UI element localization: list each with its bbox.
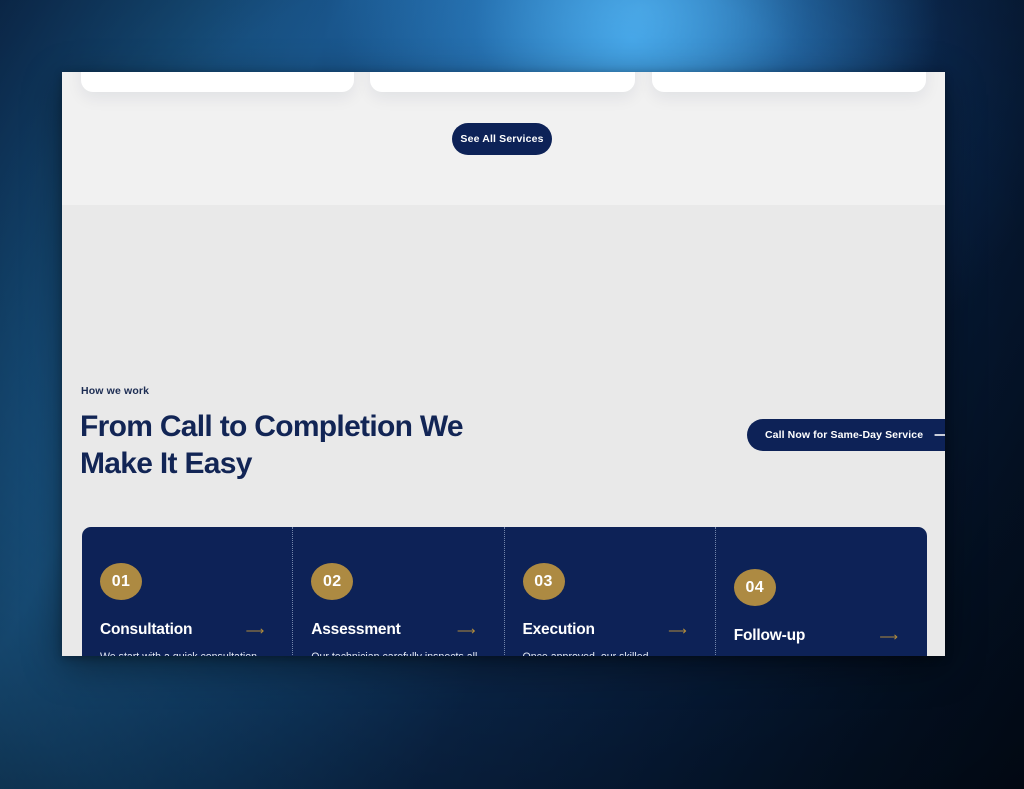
step-number-badge: 03 bbox=[523, 563, 565, 600]
step-description: Our technician carefully inspects all co… bbox=[311, 648, 479, 656]
see-all-services-button[interactable]: See All Services bbox=[452, 123, 552, 155]
process-step[interactable]: 03 Execution ⟶ Once approved, our skille… bbox=[505, 527, 716, 656]
browser-window: Learn More ⟶ Learn More ⟶ See All Servic… bbox=[62, 72, 945, 656]
step-description: We start with a quick consultation to un… bbox=[100, 648, 268, 656]
service-card[interactable] bbox=[652, 72, 926, 92]
service-card[interactable]: Learn More ⟶ bbox=[370, 72, 635, 92]
arrow-right-icon: ⟶ bbox=[934, 429, 945, 441]
how-we-work-section: How we work From Call to Completion We M… bbox=[62, 205, 945, 656]
step-number-badge: 02 bbox=[311, 563, 353, 600]
arrow-right-icon[interactable]: ⟶ bbox=[246, 624, 265, 637]
step-description: Once approved, our skilled technicians p… bbox=[523, 648, 691, 656]
process-step[interactable]: 02 Assessment ⟶ Our technician carefully… bbox=[293, 527, 504, 656]
section-eyebrow: How we work bbox=[81, 385, 149, 397]
step-title: Execution bbox=[523, 621, 595, 639]
step-header: Follow-up ⟶ bbox=[734, 627, 902, 645]
arrow-right-icon[interactable]: ⟶ bbox=[668, 624, 687, 637]
call-now-button[interactable]: Call Now for Same-Day Service ⟶ bbox=[747, 419, 945, 451]
process-step[interactable]: 04 Follow-up ⟶ After completing the job,… bbox=[716, 527, 927, 656]
step-header: Consultation ⟶ bbox=[100, 621, 268, 639]
page-title: From Call to Completion We Make It Easy bbox=[80, 409, 510, 482]
step-number-badge: 04 bbox=[734, 569, 776, 606]
services-strip: Learn More ⟶ Learn More ⟶ See All Servic… bbox=[62, 72, 945, 205]
step-header: Assessment ⟶ bbox=[311, 621, 479, 639]
step-number-badge: 01 bbox=[100, 563, 142, 600]
step-header: Execution ⟶ bbox=[523, 621, 691, 639]
step-title: Consultation bbox=[100, 621, 192, 639]
step-title: Assessment bbox=[311, 621, 400, 639]
process-steps-panel: 01 Consultation ⟶ We start with a quick … bbox=[82, 527, 927, 656]
process-step[interactable]: 01 Consultation ⟶ We start with a quick … bbox=[82, 527, 293, 656]
step-description: After completing the job, we perform a f… bbox=[734, 654, 902, 656]
service-card[interactable]: Learn More ⟶ bbox=[81, 72, 354, 92]
step-title: Follow-up bbox=[734, 627, 805, 645]
arrow-right-icon[interactable]: ⟶ bbox=[457, 624, 476, 637]
call-now-label: Call Now for Same-Day Service bbox=[765, 429, 923, 441]
arrow-right-icon[interactable]: ⟶ bbox=[879, 630, 898, 643]
